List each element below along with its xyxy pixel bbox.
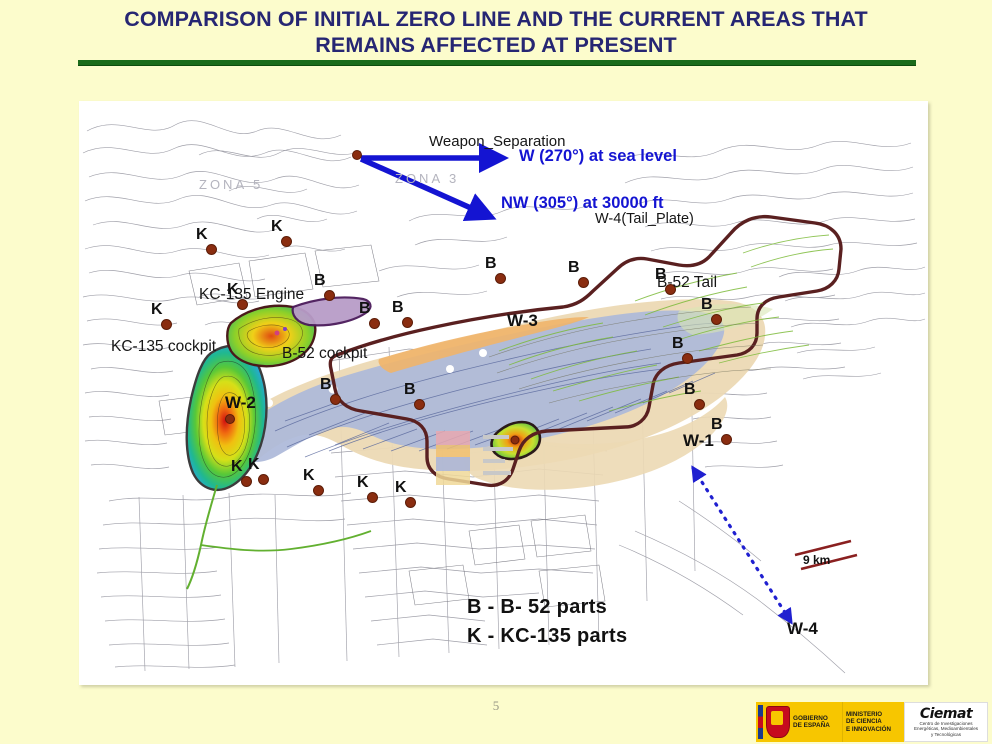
ministerio-line2: DE CIENCIA	[846, 718, 891, 725]
part-marker-dot	[578, 277, 589, 288]
part-marker-dot	[495, 273, 506, 284]
part-marker-dot	[330, 394, 341, 405]
svg-text:ZONA 3: ZONA 3	[395, 171, 459, 186]
spain-flag-bar	[758, 705, 763, 739]
part-marker-dot	[682, 353, 693, 364]
ministerio-line1: MINISTERIO	[846, 711, 891, 718]
gobierno-de-espana-logo: GOBIERNO DE ESPAÑA	[756, 702, 842, 742]
part-marker-dot	[367, 492, 378, 503]
part-marker-dot	[258, 474, 269, 485]
part-marker-dot	[405, 497, 416, 508]
title-underline-rule	[78, 60, 916, 66]
gobierno-line2: DE ESPAÑA	[793, 722, 830, 729]
ciemat-wordmark: Ciemat	[920, 707, 972, 721]
part-marker-dot	[721, 434, 732, 445]
map-graphic: ZONA 5 ZONA 3	[79, 101, 928, 685]
part-marker-dot	[369, 318, 380, 329]
part-marker-dot	[665, 284, 676, 295]
part-marker-dot	[241, 476, 252, 487]
ciemat-logo: Ciemat Centro de Investigaciones Energét…	[904, 702, 988, 742]
ciemat-subtitle: Centro de Investigaciones Energéticas, M…	[914, 721, 978, 737]
page-title: COMPARISON OF INITIAL ZERO LINE AND THE …	[0, 6, 992, 58]
part-marker-dot	[711, 314, 722, 325]
ministerio-line3: E INNOVACIÓN	[846, 726, 891, 733]
map-panel[interactable]: ZONA 5 ZONA 3 KKKKBBBBBBBBBBBBKKKKK Weap…	[79, 101, 928, 685]
part-marker-dot	[313, 485, 324, 496]
part-marker-dot	[324, 290, 335, 301]
part-marker-dot	[402, 317, 413, 328]
ministerio-logo: MINISTERIO DE CIENCIA E INNOVACIÓN	[842, 702, 904, 742]
part-marker-dot	[281, 236, 292, 247]
footer-logos: GOBIERNO DE ESPAÑA MINISTERIO DE CIENCIA…	[756, 702, 988, 742]
coat-of-arms-icon	[766, 706, 790, 738]
part-marker-dot	[694, 399, 705, 410]
svg-text:ZONA 5: ZONA 5	[199, 177, 263, 192]
part-marker-dot	[206, 244, 217, 255]
part-marker-dot	[161, 319, 172, 330]
part-marker-dot	[237, 299, 248, 310]
gobierno-line1: GOBIERNO	[793, 715, 830, 722]
part-marker-dot	[414, 399, 425, 410]
